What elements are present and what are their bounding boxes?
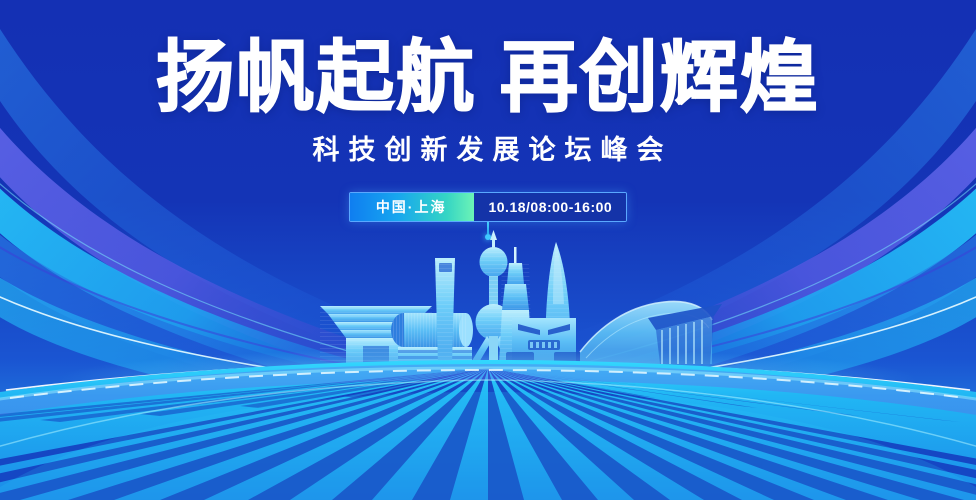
event-info-badge: 中国·上海 10.18/08:00-16:00 <box>0 192 976 222</box>
badge: 中国·上海 10.18/08:00-16:00 <box>349 192 627 222</box>
pin-stem <box>487 220 489 234</box>
map-pin-icon <box>485 220 491 240</box>
page-subtitle: 科技创新发展论坛峰会 <box>0 128 976 167</box>
title-block: 扬帆起航 再创辉煌 科技创新发展论坛峰会 <box>0 38 976 167</box>
building-swfc <box>435 258 455 364</box>
conference-banner: 扬帆起航 再创辉煌 科技创新发展论坛峰会 中国·上海 10.18/08:00-1… <box>0 0 976 500</box>
badge-location: 中国·上海 <box>350 193 475 221</box>
pin-dot <box>485 234 491 240</box>
page-title: 扬帆起航 再创辉煌 <box>0 38 976 116</box>
ground-ray-grid <box>0 355 976 500</box>
badge-datetime: 10.18/08:00-16:00 <box>474 193 626 221</box>
